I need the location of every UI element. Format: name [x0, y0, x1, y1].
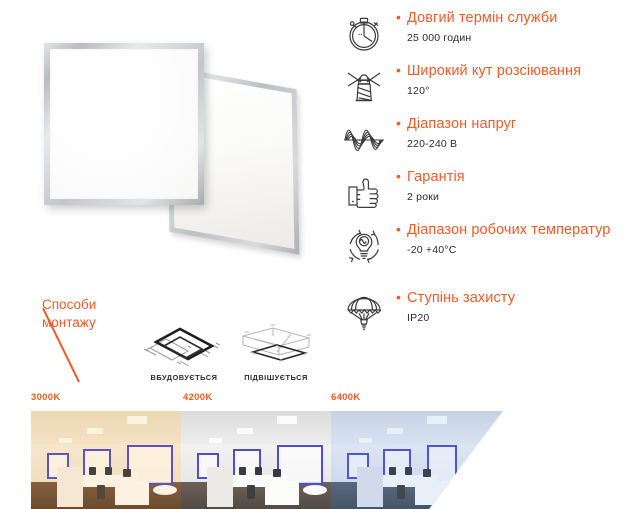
feature-value: 220-240 В: [396, 137, 640, 151]
feature-title: Широкий кут розсіювання: [396, 63, 640, 80]
color-temp-label-6400k: 6400K: [331, 392, 361, 403]
room-photo-warm: [31, 411, 181, 509]
office-scene: [331, 411, 503, 509]
led-panel-front-diffuser: [50, 49, 198, 199]
suspended-frame-icon: [228, 322, 324, 370]
feature-item-voltage: Діапазон напруг 220-240 В: [334, 116, 640, 163]
stopwatch-icon: [338, 12, 390, 56]
parachute-bulb-icon: [338, 292, 390, 336]
feature-value: 2 роки: [396, 190, 640, 204]
feature-value: 120°: [396, 84, 640, 98]
led-panel-front: [44, 43, 204, 205]
product-image: [0, 0, 330, 290]
office-scene: [181, 411, 331, 509]
color-tint-overlay: [331, 411, 503, 509]
color-temp-label-4200k: 4200K: [183, 392, 213, 403]
feature-item-ip-rating: Ступінь захисту IP20: [334, 290, 640, 337]
feature-title: Гарантія: [396, 169, 640, 186]
feature-title: Ступінь захисту: [396, 290, 640, 307]
color-temp-label-3000k: 3000K: [31, 392, 61, 403]
feature-value: IP20: [396, 311, 640, 325]
bulb-cycle-icon: [338, 224, 390, 268]
room-photo-cool: [331, 411, 503, 509]
color-tint-overlay: [31, 411, 181, 509]
feature-title: Діапазон напруг: [396, 116, 640, 133]
sine-wave-icon: [338, 118, 390, 162]
feature-value: -20 +40°C: [396, 243, 640, 257]
lighthouse-icon: [338, 65, 390, 109]
feature-list: Довгий термін служби 25 000 годин Широки: [334, 10, 640, 343]
feature-item-operating-temperature: Діапазон робочих температур -20 +40°C: [334, 222, 640, 284]
feature-item-beam-angle: Широкий кут розсіювання 120°: [334, 63, 640, 110]
color-tint-overlay: [181, 411, 331, 509]
mounting-option-label: ВБУДОВУЄТЬСЯ: [130, 373, 238, 382]
mounting-heading: Способи монтажу: [42, 296, 132, 332]
feature-title: Діапазон робочих температур: [396, 222, 640, 239]
feature-item-lifetime: Довгий термін служби 25 000 годин: [334, 10, 640, 57]
thumbs-up-icon: [338, 171, 390, 215]
mounting-option-recessed: ВБУДОВУЄТЬСЯ: [130, 322, 238, 382]
room-photo-neutral: [181, 411, 331, 509]
feature-value: 25 000 годин: [396, 31, 640, 45]
office-scene: [31, 411, 181, 509]
mounting-option-suspended: ПІДВІШУЄТЬСЯ: [228, 322, 324, 382]
mounting-option-label: ПІДВІШУЄТЬСЯ: [228, 373, 324, 382]
recessed-frame-icon: [130, 322, 238, 370]
feature-item-warranty: Гарантія 2 роки: [334, 169, 640, 216]
infographic-page: Довгий термін служби 25 000 годин Широки: [0, 0, 640, 509]
feature-title: Довгий термін служби: [396, 10, 640, 27]
